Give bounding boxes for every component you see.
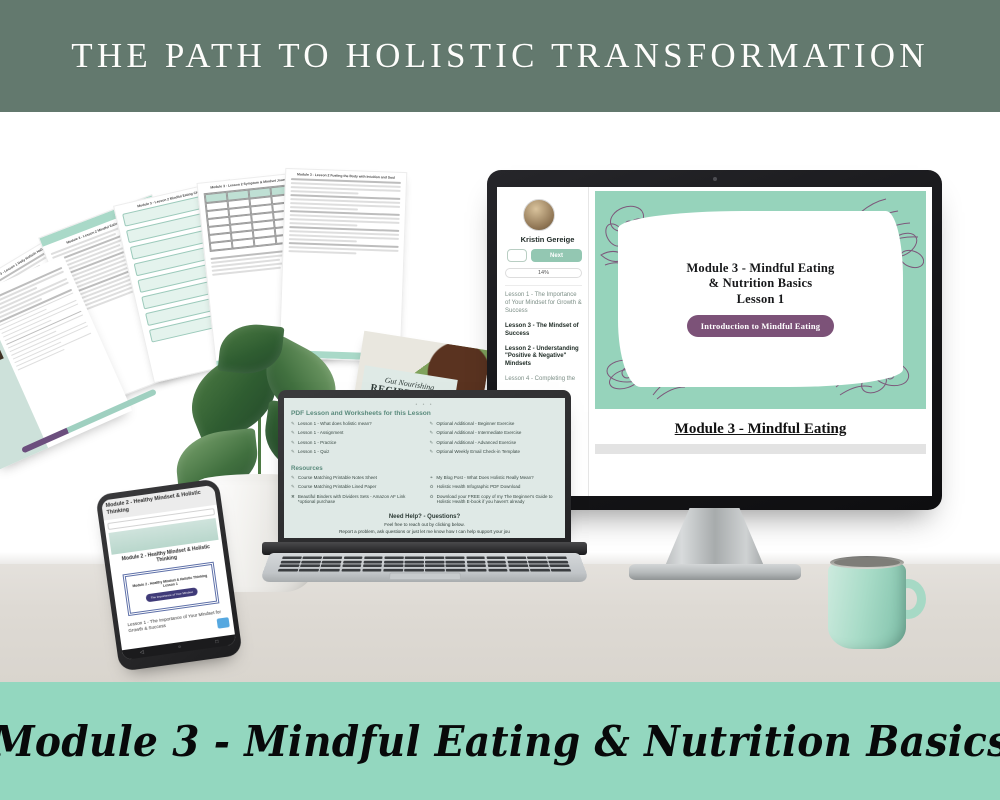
slide-title-line2: & Nutrition Basics bbox=[709, 276, 813, 291]
coffee-mug bbox=[828, 553, 928, 649]
course-main-content: Module 3 - Mindful Eating & Nutrition Ba… bbox=[589, 187, 932, 496]
document-icon: ✎ bbox=[430, 421, 434, 427]
sidebar-lesson-item[interactable]: Lesson 4 - Completing the bbox=[505, 376, 582, 384]
help-section: Need Help? - Questions? Feel free to rea… bbox=[291, 514, 558, 534]
module-title: Module 3 - Mindful Eating & Nutrition Ba… bbox=[0, 717, 1000, 766]
product-mockup-image: THE PATH TO HOLISTIC TRANSFORMATION Modu… bbox=[0, 0, 1000, 800]
download-icon: ♻ bbox=[430, 494, 434, 506]
document-icon: ✎ bbox=[430, 430, 434, 436]
mug-body bbox=[828, 561, 906, 649]
document-icon: ✎ bbox=[291, 449, 295, 455]
list-item-label: My Blog Post - What Does Holistic Really… bbox=[436, 475, 533, 481]
sidebar-lesson-item[interactable]: Lesson 1 - The Importance of Your Mindse… bbox=[505, 292, 582, 316]
document-icon: ✎ bbox=[291, 430, 295, 436]
list-item[interactable]: ✎ Optional Additional - Advanced Exercis… bbox=[430, 440, 559, 446]
list-item-label: Lesson 1 - Assignment bbox=[298, 430, 344, 436]
list-item[interactable]: ✎ Lesson 1 - What does holistic mean? bbox=[291, 421, 420, 427]
list-item-label: Lesson 1 - Practice bbox=[298, 440, 337, 446]
lesson-video[interactable]: Module 3 - Mindful Eating & Nutrition Ba… bbox=[595, 191, 926, 409]
user-name: Kristin Gereige bbox=[513, 235, 582, 244]
resources-left-column: ✎ Course Matching Printable Notes Sheet … bbox=[291, 475, 420, 509]
list-item-label: Optional Additional - Advanced Exercise bbox=[436, 440, 516, 446]
slide-content: Module 3 - Mindful Eating & Nutrition Ba… bbox=[618, 211, 903, 388]
list-item-label: Course Matching Printable Notes Sheet bbox=[298, 475, 377, 481]
list-item[interactable]: ✎ Optional Additional - Beginner Exercis… bbox=[430, 421, 559, 427]
list-item[interactable]: ✖ Beautiful Binders with Dividers Sets -… bbox=[291, 494, 420, 506]
list-item-label: Lesson 1 - Quiz bbox=[298, 449, 330, 455]
previous-button[interactable] bbox=[507, 249, 527, 262]
monitor-stand-base bbox=[629, 564, 801, 580]
link-icon: ⚭ bbox=[430, 475, 434, 481]
list-item[interactable]: ✎ Lesson 1 - Assignment bbox=[291, 430, 420, 436]
header-band: THE PATH TO HOLISTIC TRANSFORMATION bbox=[0, 0, 1000, 112]
avatar bbox=[523, 199, 555, 231]
list-item[interactable]: ✎ Optional Weekly Email Check-in Templat… bbox=[430, 449, 559, 455]
back-icon[interactable]: ◁ bbox=[139, 649, 144, 655]
slide-title-line1: Module 3 - Mindful Eating bbox=[686, 261, 834, 276]
list-item[interactable]: ✎ Course Matching Printable Lined Paper bbox=[291, 484, 420, 490]
resources-right-column: ⚭ My Blog Post - What Does Holistic Real… bbox=[430, 475, 559, 509]
laptop-lid: • • • PDF Lesson and Worksheets for this… bbox=[278, 390, 571, 545]
list-item[interactable]: ♻ Holistic Health Infographic PDF Downlo… bbox=[430, 484, 559, 490]
document-icon: ✎ bbox=[291, 421, 295, 427]
document-icon: ✖ bbox=[291, 494, 295, 506]
divider bbox=[505, 285, 582, 286]
laptop-page: • • • PDF Lesson and Worksheets for this… bbox=[284, 398, 565, 534]
list-item-label: Lesson 1 - What does holistic mean? bbox=[298, 421, 372, 427]
keyboard[interactable] bbox=[278, 556, 572, 571]
laptop-screen: • • • PDF Lesson and Worksheets for this… bbox=[284, 398, 565, 538]
list-item-label: Optional Weekly Email Check-in Template bbox=[436, 449, 520, 455]
document-icon: ✎ bbox=[291, 475, 295, 481]
laptop: • • • PDF Lesson and Worksheets for this… bbox=[262, 390, 587, 580]
smartphone: Module 2 - Healthy Mindset & Holistic Th… bbox=[95, 478, 243, 672]
footer-band: Module 3 - Mindful Eating & Nutrition Ba… bbox=[0, 682, 1000, 800]
download-icon: ♻ bbox=[430, 484, 434, 490]
next-button[interactable]: Next bbox=[531, 249, 582, 262]
help-title: Need Help? - Questions? bbox=[291, 514, 558, 520]
list-item[interactable]: ⚭ My Blog Post - What Does Holistic Real… bbox=[430, 475, 559, 481]
sidebar-lesson-item[interactable]: Lesson 3 - The Mindset of Success bbox=[505, 323, 582, 339]
monitor-stand-neck bbox=[663, 508, 767, 572]
phone-lesson-card[interactable]: Module 2 - Healthy Mindset & Holistic Th… bbox=[109, 518, 231, 639]
chat-icon[interactable] bbox=[217, 617, 230, 629]
webcam-icon bbox=[713, 177, 717, 181]
document-icon: ✎ bbox=[291, 484, 295, 490]
slide-title-line3: Lesson 1 bbox=[737, 292, 785, 307]
list-item[interactable]: ♻ Download your FREE copy of my The Begi… bbox=[430, 494, 559, 506]
list-item[interactable]: ✎ Optional Additional - Intermediate Exe… bbox=[430, 430, 559, 436]
document-icon: ✎ bbox=[291, 440, 295, 446]
help-line-1: Feel free to reach out by clicking below… bbox=[291, 522, 558, 527]
worksheets-right-column: ✎ Optional Additional - Beginner Exercis… bbox=[430, 421, 559, 459]
list-item-label: Course Matching Printable Lined Paper bbox=[298, 484, 377, 490]
resources-section-title: Resources bbox=[291, 465, 558, 472]
sidebar-lesson-item[interactable]: Lesson 2 - Understanding "Positive & Neg… bbox=[505, 346, 582, 370]
help-line-2: Report a problem, ask questions or just … bbox=[291, 529, 558, 534]
worksheets-section-title: PDF Lesson and Worksheets for this Lesso… bbox=[291, 410, 558, 417]
laptop-keyboard-deck bbox=[259, 553, 590, 582]
list-item[interactable]: ✎ Lesson 1 - Quiz bbox=[291, 449, 420, 455]
list-item-label: Beautiful Binders with Dividers Sets - A… bbox=[298, 494, 420, 506]
progress-bar: 14% bbox=[505, 268, 582, 278]
list-item[interactable]: ✎ Course Matching Printable Notes Sheet bbox=[291, 475, 420, 481]
list-item-label: Optional Additional - Intermediate Exerc… bbox=[436, 430, 521, 436]
phone-screen: Module 2 - Healthy Mindset & Holistic Th… bbox=[101, 485, 236, 660]
lesson-nav[interactable]: Next bbox=[507, 249, 582, 262]
mug-interior bbox=[834, 558, 900, 567]
list-item-label: Download your FREE copy of my The Beginn… bbox=[437, 494, 558, 506]
worksheets-left-column: ✎ Lesson 1 - What does holistic mean? ✎ … bbox=[291, 421, 420, 459]
document-icon: ✎ bbox=[430, 440, 434, 446]
slide-cta-button[interactable]: Introduction to Mindful Eating bbox=[687, 315, 834, 337]
page-title: THE PATH TO HOLISTIC TRANSFORMATION bbox=[71, 36, 928, 76]
document-icon: ✎ bbox=[430, 449, 434, 455]
trackpad[interactable] bbox=[388, 573, 460, 581]
home-icon[interactable]: ○ bbox=[178, 644, 182, 650]
list-item[interactable]: ✎ Lesson 1 - Practice bbox=[291, 440, 420, 446]
list-item-label: Holistic Health Infographic PDF Download bbox=[437, 484, 521, 490]
list-item-label: Optional Additional - Beginner Exercise bbox=[436, 421, 514, 427]
recents-icon[interactable]: □ bbox=[215, 639, 219, 645]
window-controls: • • • bbox=[291, 403, 558, 408]
content-placeholder-bar bbox=[595, 444, 926, 454]
lesson-heading: Module 3 - Mindful Eating bbox=[595, 421, 926, 438]
scene: Module 3 - Lesson 1 Daily Holistic Habit… bbox=[0, 112, 1000, 682]
